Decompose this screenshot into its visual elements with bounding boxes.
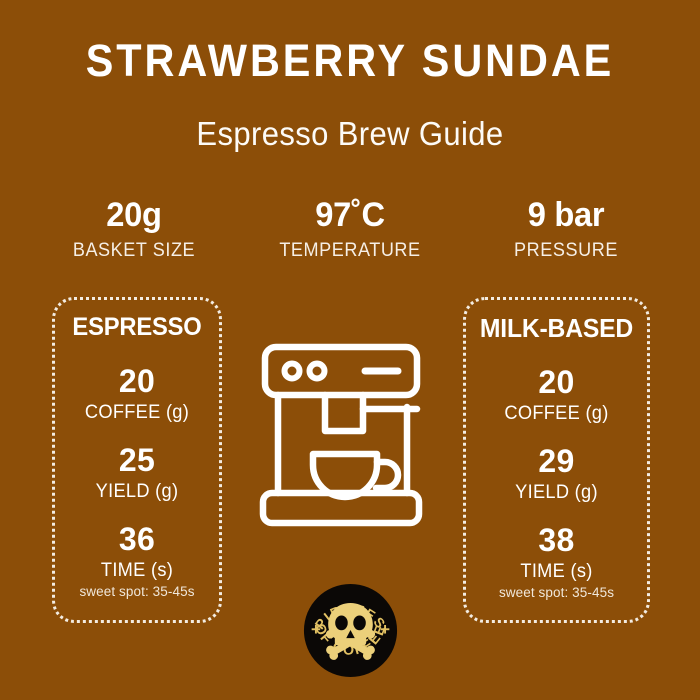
metric-label: YIELD (g) bbox=[58, 482, 215, 501]
stat-temperature: 97˚C TEMPERATURE bbox=[244, 198, 456, 260]
espresso-machine-icon bbox=[255, 335, 430, 535]
metric-label: COFFEE (g) bbox=[470, 404, 644, 423]
recipe-card-title: ESPRESSO bbox=[59, 315, 215, 340]
metric-label: TIME (s) bbox=[58, 561, 215, 580]
sweet-spot-note: sweet spot: 35-45s bbox=[466, 586, 647, 600]
recipe-metric-coffee: 20 COFFEE (g) bbox=[55, 365, 219, 422]
stat-label: TEMPERATURE bbox=[249, 241, 450, 260]
recipe-card-milk-based: MILK-BASED 20 COFFEE (g) 29 YIELD (g) 38… bbox=[463, 297, 650, 623]
recipe-metric-time: 38 TIME (s) sweet spot: 35-45s bbox=[466, 524, 647, 600]
stat-value: 97˚C bbox=[248, 198, 452, 234]
metric-label: YIELD (g) bbox=[470, 483, 644, 502]
metric-label: TIME (s) bbox=[470, 562, 644, 581]
page-title: STRAWBERRY SUNDAE bbox=[28, 38, 672, 83]
metric-label: COFFEE (g) bbox=[58, 403, 215, 422]
stat-label: PRESSURE bbox=[465, 241, 666, 260]
recipe-card-espresso: ESPRESSO 20 COFFEE (g) 25 YIELD (g) 36 T… bbox=[52, 297, 222, 623]
metric-value: 25 bbox=[55, 444, 219, 476]
stat-label: BASKET SIZE bbox=[33, 241, 234, 260]
metric-value: 20 bbox=[55, 365, 219, 397]
recipe-metric-yield: 25 YIELD (g) bbox=[55, 444, 219, 501]
metric-value: 29 bbox=[466, 445, 647, 477]
recipe-metric-yield: 29 YIELD (g) bbox=[466, 445, 647, 502]
recipe-metric-coffee: 20 COFFEE (g) bbox=[466, 366, 647, 423]
recipe-card-title: MILK-BASED bbox=[471, 315, 643, 341]
page-subtitle: Espresso Brew Guide bbox=[21, 117, 679, 150]
metric-value: 20 bbox=[466, 366, 647, 398]
sweet-spot-note: sweet spot: 35-45s bbox=[55, 585, 219, 599]
stat-value: 9 bar bbox=[464, 198, 668, 234]
stat-basket-size: 20g BASKET SIZE bbox=[28, 198, 240, 260]
stat-value: 20g bbox=[32, 198, 236, 234]
stat-pressure: 9 bar PRESSURE bbox=[460, 198, 672, 260]
metric-value: 36 bbox=[55, 523, 219, 555]
brew-guide-infographic: STRAWBERRY SUNDAE Espresso Brew Guide 20… bbox=[0, 0, 700, 700]
recipe-metric-time: 36 TIME (s) sweet spot: 35-45s bbox=[55, 523, 219, 599]
brew-parameters-row: 20g BASKET SIZE 97˚C TEMPERATURE 9 bar P… bbox=[28, 198, 672, 260]
pirates-of-coffee-logo: PIRATES OF COFFEE bbox=[303, 583, 398, 678]
metric-value: 38 bbox=[466, 524, 647, 556]
